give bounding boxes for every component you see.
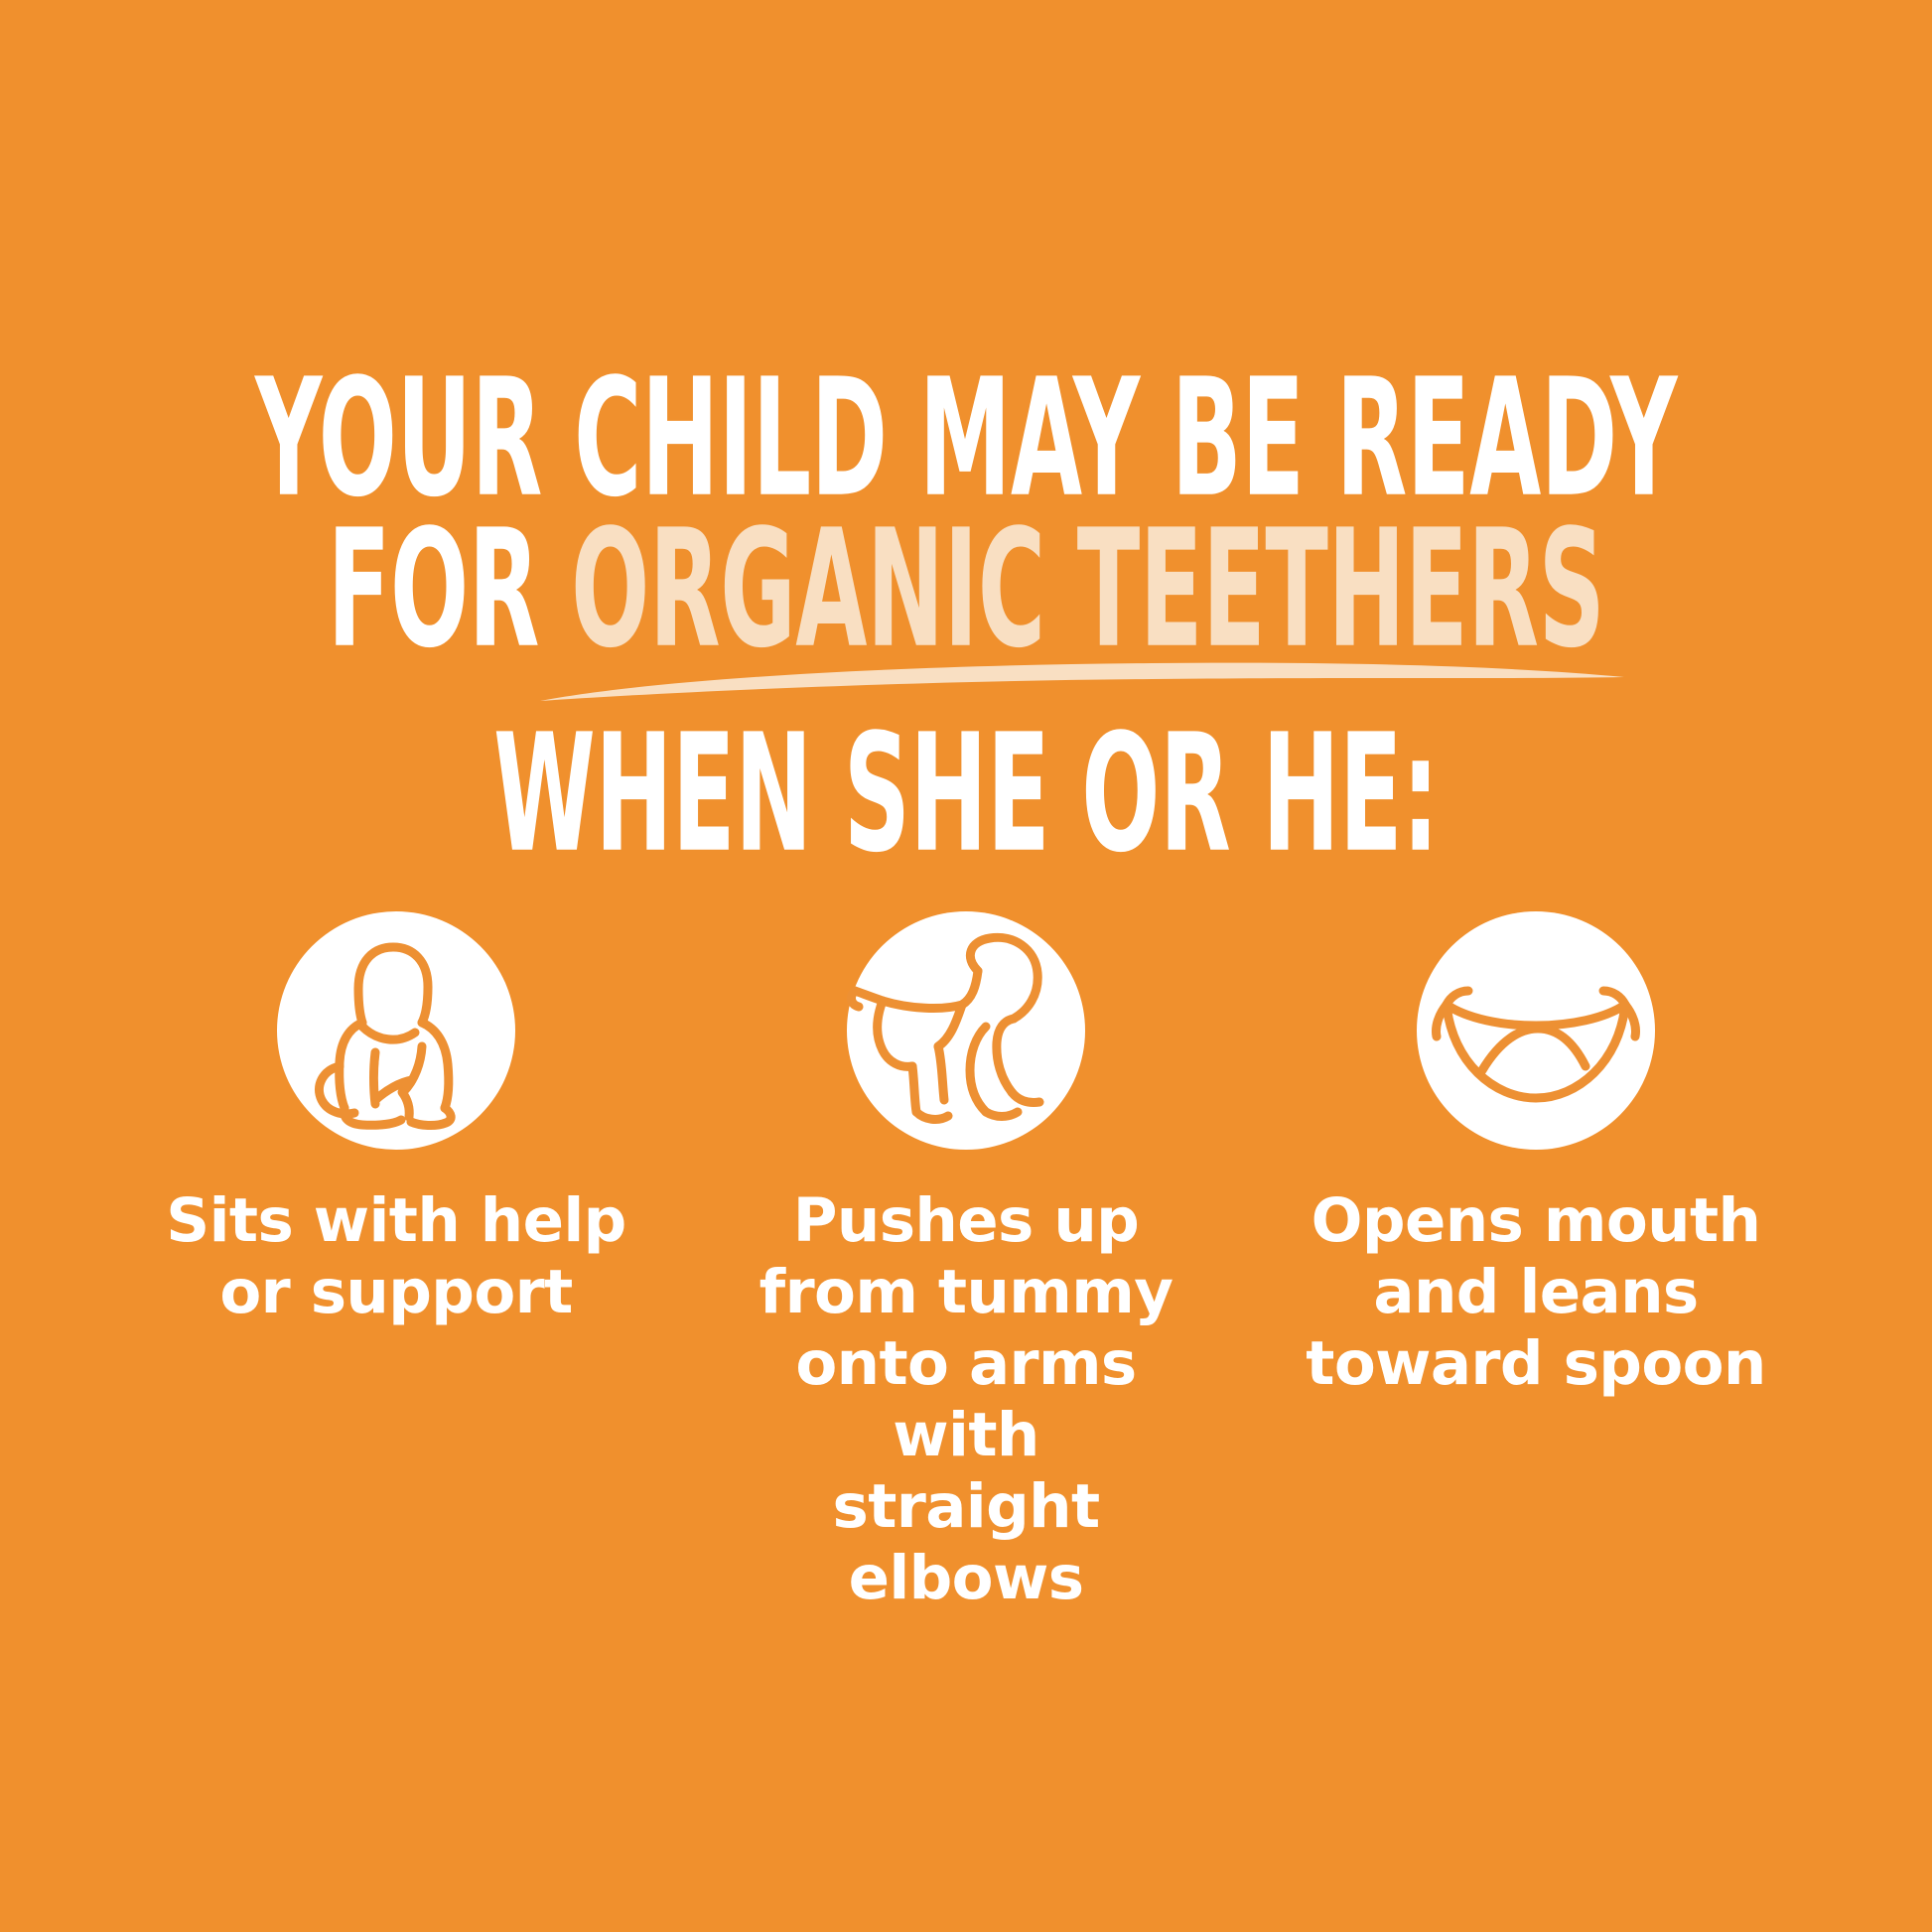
poster-root: YOUR CHILD MAY BE READY FOR ORGANIC TEET… bbox=[0, 0, 1932, 1932]
baby-sitting-icon bbox=[277, 911, 515, 1150]
readiness-sign-1-caption: Sits with help or support bbox=[138, 1185, 654, 1328]
readiness-signs-row: Sits with help or support bbox=[0, 911, 1932, 1614]
readiness-sign-3-caption: Opens mouth and leans toward spoon bbox=[1303, 1185, 1769, 1400]
readiness-sign-2: Pushes up from tummy onto arms with stra… bbox=[681, 911, 1251, 1614]
headline-line-2-prefix: FOR bbox=[328, 494, 571, 684]
headline-line-2: FOR ORGANIC TEETHERS bbox=[251, 508, 1681, 671]
readiness-sign-3: Opens mouth and leans toward spoon bbox=[1251, 911, 1821, 1400]
headline-accent-organic-teethers: ORGANIC TEETHERS bbox=[571, 494, 1604, 684]
headline-block: YOUR CHILD MAY BE READY FOR ORGANIC TEET… bbox=[0, 357, 1932, 838]
open-mouth-icon bbox=[1417, 911, 1655, 1150]
readiness-sign-1: Sits with help or support bbox=[111, 911, 681, 1328]
readiness-sign-2-caption: Pushes up from tummy onto arms with stra… bbox=[753, 1185, 1179, 1614]
headline-line-3: WHEN SHE OR HE: bbox=[251, 713, 1681, 876]
baby-pushing-up-tummy-icon bbox=[847, 911, 1085, 1150]
